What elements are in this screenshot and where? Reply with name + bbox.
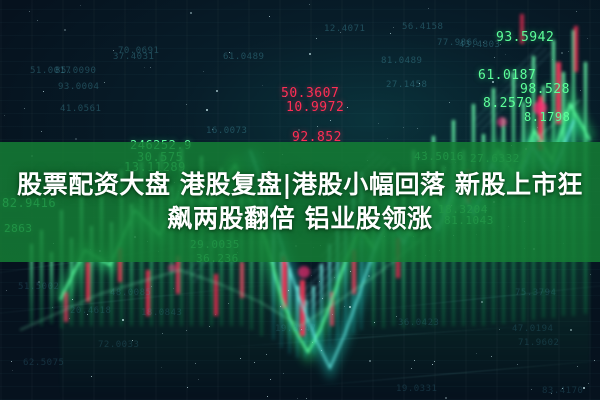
- ticker-number: 98.528: [520, 82, 570, 97]
- particle: [577, 366, 578, 367]
- ticker-number: 85.0090: [55, 66, 96, 76]
- ticker-number: 36.0423: [398, 318, 439, 328]
- particle: [186, 104, 187, 105]
- ticker-number: 71.9602: [518, 338, 559, 348]
- particle: [332, 314, 333, 315]
- ticker-number: 77.9866: [437, 38, 478, 48]
- ticker-number: 51.5002: [18, 282, 59, 292]
- ticker-number: 56.4158: [402, 22, 443, 32]
- particle: [340, 32, 341, 33]
- ticker-number: 93.5942: [496, 30, 554, 45]
- ticker-number: 20.4618: [70, 306, 111, 316]
- particle: [583, 387, 585, 389]
- particle: [215, 314, 216, 315]
- particle: [551, 393, 552, 394]
- ticker-number: 48.0085: [110, 288, 151, 298]
- particle: [374, 322, 375, 323]
- particle: [552, 59, 553, 60]
- particle: [312, 342, 313, 343]
- particle: [350, 271, 351, 272]
- particle: [588, 383, 589, 384]
- ticker-number: 16.0073: [206, 126, 247, 136]
- particle: [349, 306, 351, 308]
- ticker-number: 47.0194: [512, 324, 553, 334]
- ticker-number: 50.3607: [281, 86, 339, 101]
- particle: [64, 29, 66, 31]
- ticker-number: 18.0843: [141, 308, 182, 318]
- ticker-number: 27.1458: [386, 80, 427, 90]
- headline-line-2: 飙两股翻倍 铝业股领涨: [167, 204, 432, 235]
- particle: [562, 388, 563, 389]
- particle: [500, 44, 501, 45]
- particle: [483, 42, 484, 43]
- ticker-number: 41.0561: [60, 104, 101, 114]
- particle: [37, 20, 38, 21]
- promo-banner-image: 93.594261.018798.5288.25798.179850.36071…: [0, 0, 600, 400]
- ticker-number: 8.1798: [524, 110, 570, 124]
- particle: [254, 362, 255, 363]
- ticker-number: 72.0033: [98, 340, 139, 350]
- particle: [499, 329, 500, 330]
- particle: [491, 356, 492, 357]
- particle: [69, 318, 70, 319]
- ticker-number: 93.0004: [58, 82, 99, 92]
- particle: [91, 376, 92, 377]
- ticker-number: 19.0331: [396, 384, 437, 394]
- particle: [411, 368, 412, 369]
- ticker-number: 75.3794: [515, 288, 556, 298]
- particle: [390, 33, 391, 34]
- ticker-number: 81.0489: [381, 56, 422, 66]
- ticker-number: 19.8847: [275, 324, 316, 334]
- particle: [12, 370, 13, 371]
- particle: [122, 319, 124, 321]
- ticker-number: 12.4071: [324, 24, 365, 34]
- particle: [561, 52, 563, 54]
- particle: [195, 363, 196, 364]
- ticker-number: 62.5075: [23, 358, 64, 368]
- headline-block: 股票配资大盘 港股复盘|港股小幅回落 新股上市狂 飙两股翻倍 铝业股领涨: [0, 142, 600, 262]
- particle: [306, 398, 307, 399]
- particle: [537, 127, 538, 128]
- particle: [434, 361, 435, 362]
- particle: [321, 350, 322, 351]
- ticker-number: 8.2579: [483, 96, 533, 111]
- ticker-number: 10.9972: [286, 100, 344, 115]
- ticker-number: 61.0187: [478, 68, 536, 83]
- particle: [43, 91, 44, 92]
- particle: [262, 85, 263, 86]
- ticker-number: 37.4031: [113, 52, 154, 62]
- particle: [280, 306, 281, 307]
- headline-line-1: 股票配资大盘 港股复盘|港股小幅回落 新股上市狂: [17, 170, 583, 201]
- particle: [528, 113, 529, 114]
- particle: [212, 129, 213, 130]
- particle: [301, 329, 302, 330]
